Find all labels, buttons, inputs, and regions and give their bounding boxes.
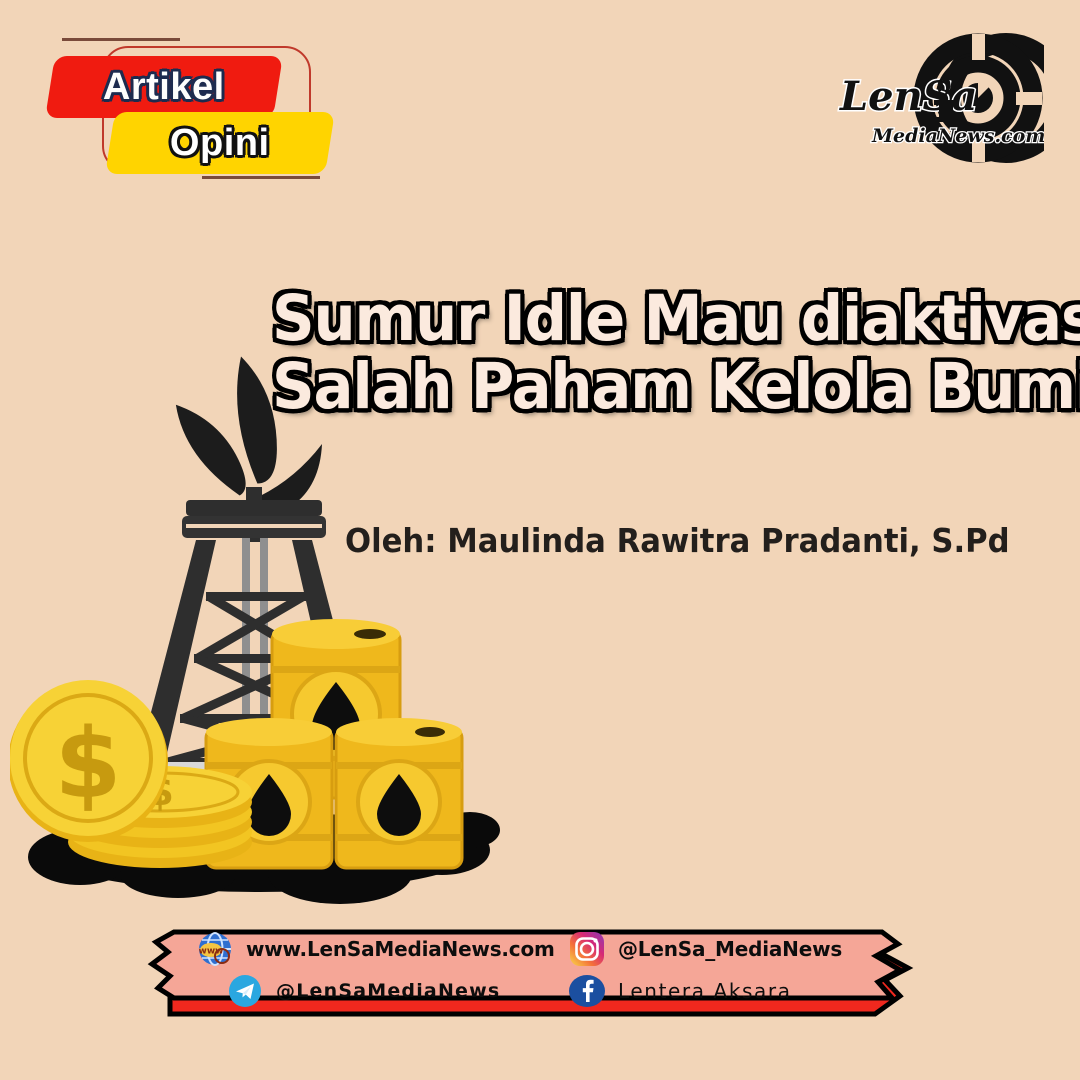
decorative-dash-top-left [62,38,180,41]
coin-large: $ [10,680,168,842]
footer-website-label: www.LenSaMediaNews.com [246,937,555,961]
decorative-dash-bottom-right [202,176,320,179]
footer-item-facebook[interactable]: Lentera Aksara [568,972,792,1010]
footer-facebook-label: Lentera Aksara [618,979,792,1003]
badge-opini-label: Opini [170,122,270,165]
instagram-icon [568,930,606,968]
barrel-cap-top [354,629,386,639]
oil-droplets [170,354,322,512]
badge-artikel-label: Artikel [103,66,225,109]
footer-item-telegram[interactable]: @LenSaMediaNews [196,972,568,1010]
barrel-cap-right [415,727,445,737]
footer-item-instagram[interactable]: @LenSa_MediaNews [568,930,842,968]
badge-artikel: Artikel [45,56,283,118]
oil-illustration-svg: $ $ [10,262,520,912]
footer-item-website[interactable]: www www.LenSaMediaNews.com [196,930,568,968]
oil-illustration: $ $ [10,262,520,912]
derrick-cap-top [186,500,322,516]
lensa-logo-svg: LenSa MediaNews.com [834,26,1044,171]
logo-brand-text: LenSa [839,73,977,120]
lensa-logo: LenSa MediaNews.com [834,26,1044,171]
oil-droplet-left [170,405,251,496]
footer-telegram-label: @LenSaMediaNews [276,980,500,1002]
footer-row-1: www www.LenSaMediaNews.com [196,930,896,968]
footer-instagram-label: @LenSa_MediaNews [618,937,842,961]
footer-ribbon: www www.LenSaMediaNews.com [140,918,940,1026]
poster-canvas: Artikel Opini LenSa [0,0,1080,1080]
globe-www-icon: www [196,930,234,968]
lens-gap-right [1016,92,1042,105]
logo-tagline-text: MediaNews.com [871,125,1044,147]
oil-barrel-right [336,718,462,868]
footer-contact-rows: www www.LenSaMediaNews.com [196,932,896,1008]
footer-row-2: @LenSaMediaNews Lentera Aksara [196,972,896,1010]
lens-gap-top [972,34,985,60]
derrick-cap-stripe [186,524,322,528]
telegram-icon [226,972,264,1010]
badge-opini: Opini [105,112,335,174]
coin-large-dollar-sign: $ [55,708,122,820]
facebook-icon [568,972,606,1010]
svg-text:www: www [199,947,224,957]
category-badge-group: Artikel Opini [42,34,332,184]
